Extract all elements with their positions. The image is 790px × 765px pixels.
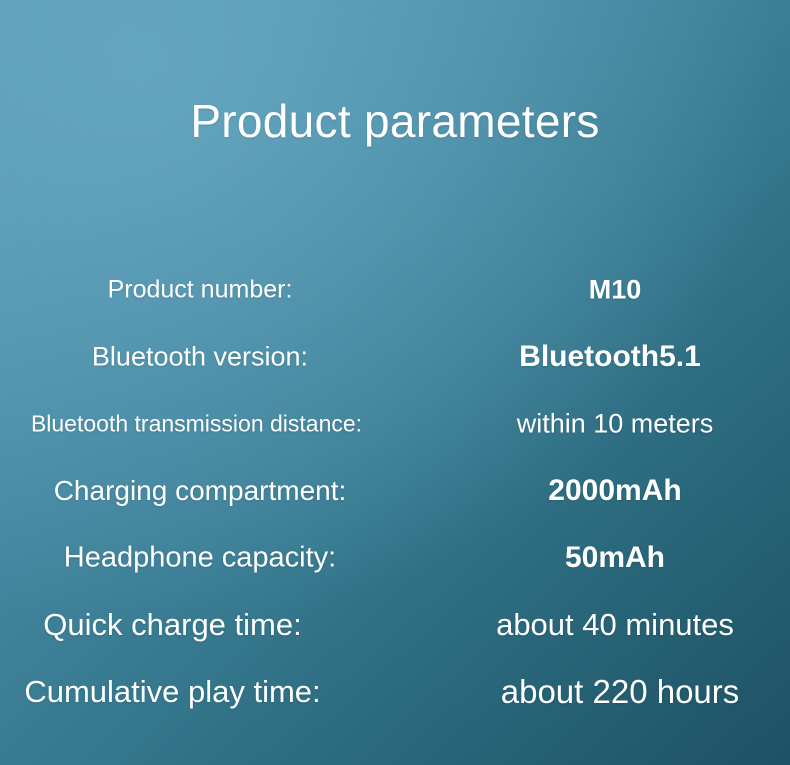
page-title: Product parameters	[190, 97, 599, 145]
spec-label: Bluetooth transmission distance:	[0, 410, 393, 437]
spec-label: Charging compartment:	[0, 475, 400, 507]
spec-value: Bluetooth5.1	[460, 340, 760, 374]
spec-value: M10	[470, 274, 760, 305]
spec-label: Bluetooth version:	[0, 341, 400, 372]
product-parameters-banner: Product parameters Product number: M10 B…	[0, 0, 790, 765]
spec-value: 50mAh	[470, 541, 760, 575]
spec-row-quick-charge-time: Quick charge time: about 40 minutes	[0, 591, 790, 658]
spec-value: about 40 minutes	[470, 607, 760, 643]
spec-value: 2000mAh	[470, 474, 760, 508]
spec-label: Cumulative play time:	[0, 674, 345, 710]
spec-row-headphone-capacity: Headphone capacity: 50mAh	[0, 524, 790, 591]
spec-row-charging-compartment: Charging compartment: 2000mAh	[0, 457, 790, 524]
spec-label: Quick charge time:	[0, 607, 345, 643]
spec-row-cumulative-play-time: Cumulative play time: about 220 hours	[0, 658, 790, 725]
spec-value: about 220 hours	[470, 673, 770, 711]
spec-label: Headphone capacity:	[0, 541, 400, 574]
spec-row-transmission-distance: Bluetooth transmission distance: within …	[0, 390, 790, 457]
spec-row-bluetooth-version: Bluetooth version: Bluetooth5.1	[0, 323, 790, 390]
spec-label: Product number:	[0, 275, 400, 304]
spec-value: within 10 meters	[470, 408, 760, 439]
spec-table: Product number: M10 Bluetooth version: B…	[0, 256, 790, 725]
spec-row-product-number: Product number: M10	[0, 256, 790, 323]
page-title-container: Product parameters	[0, 66, 790, 176]
